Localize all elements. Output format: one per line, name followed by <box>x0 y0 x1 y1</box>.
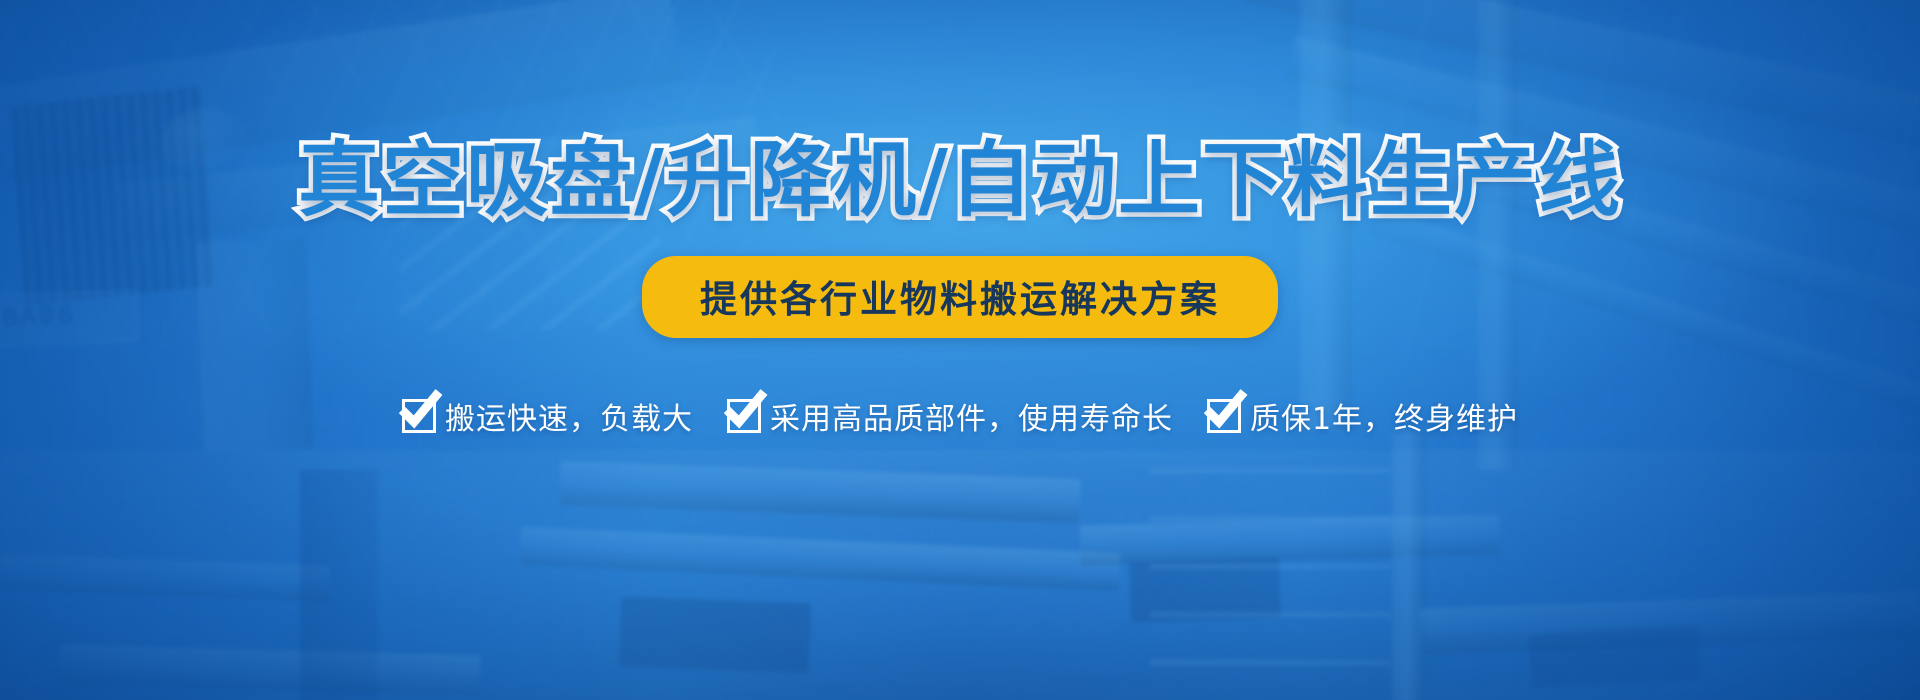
feature-item-1: 搬运快速，负载大 <box>402 394 693 438</box>
feature-label-3: 质保1年，终身维护 <box>1250 394 1518 438</box>
checkbox-checked-icon <box>402 399 436 433</box>
banner-content: 真空吸盘/升降机/自动上下料生产线 提供各行业物料搬运解决方案 搬运快速，负载大… <box>0 0 1920 700</box>
feature-label-1: 搬运快速，负载大 <box>445 394 693 438</box>
checkbox-checked-icon <box>1207 399 1241 433</box>
feature-list: 搬运快速，负载大 采用高品质部件，使用寿命长 质保1年，终身维护 <box>402 394 1518 438</box>
page-title: 真空吸盘/升降机/自动上下料生产线 <box>298 140 1622 222</box>
feature-item-2: 采用高品质部件，使用寿命长 <box>727 394 1173 438</box>
hero-banner: BA06 真空吸盘/升降机/自动上下料生产线 提供各行业物料搬运解决方案 <box>0 0 1920 700</box>
feature-item-3: 质保1年，终身维护 <box>1207 394 1518 438</box>
tagline-badge: 提供各行业物料搬运解决方案 <box>642 256 1278 338</box>
checkbox-checked-icon <box>727 399 761 433</box>
feature-label-2: 采用高品质部件，使用寿命长 <box>770 394 1173 438</box>
